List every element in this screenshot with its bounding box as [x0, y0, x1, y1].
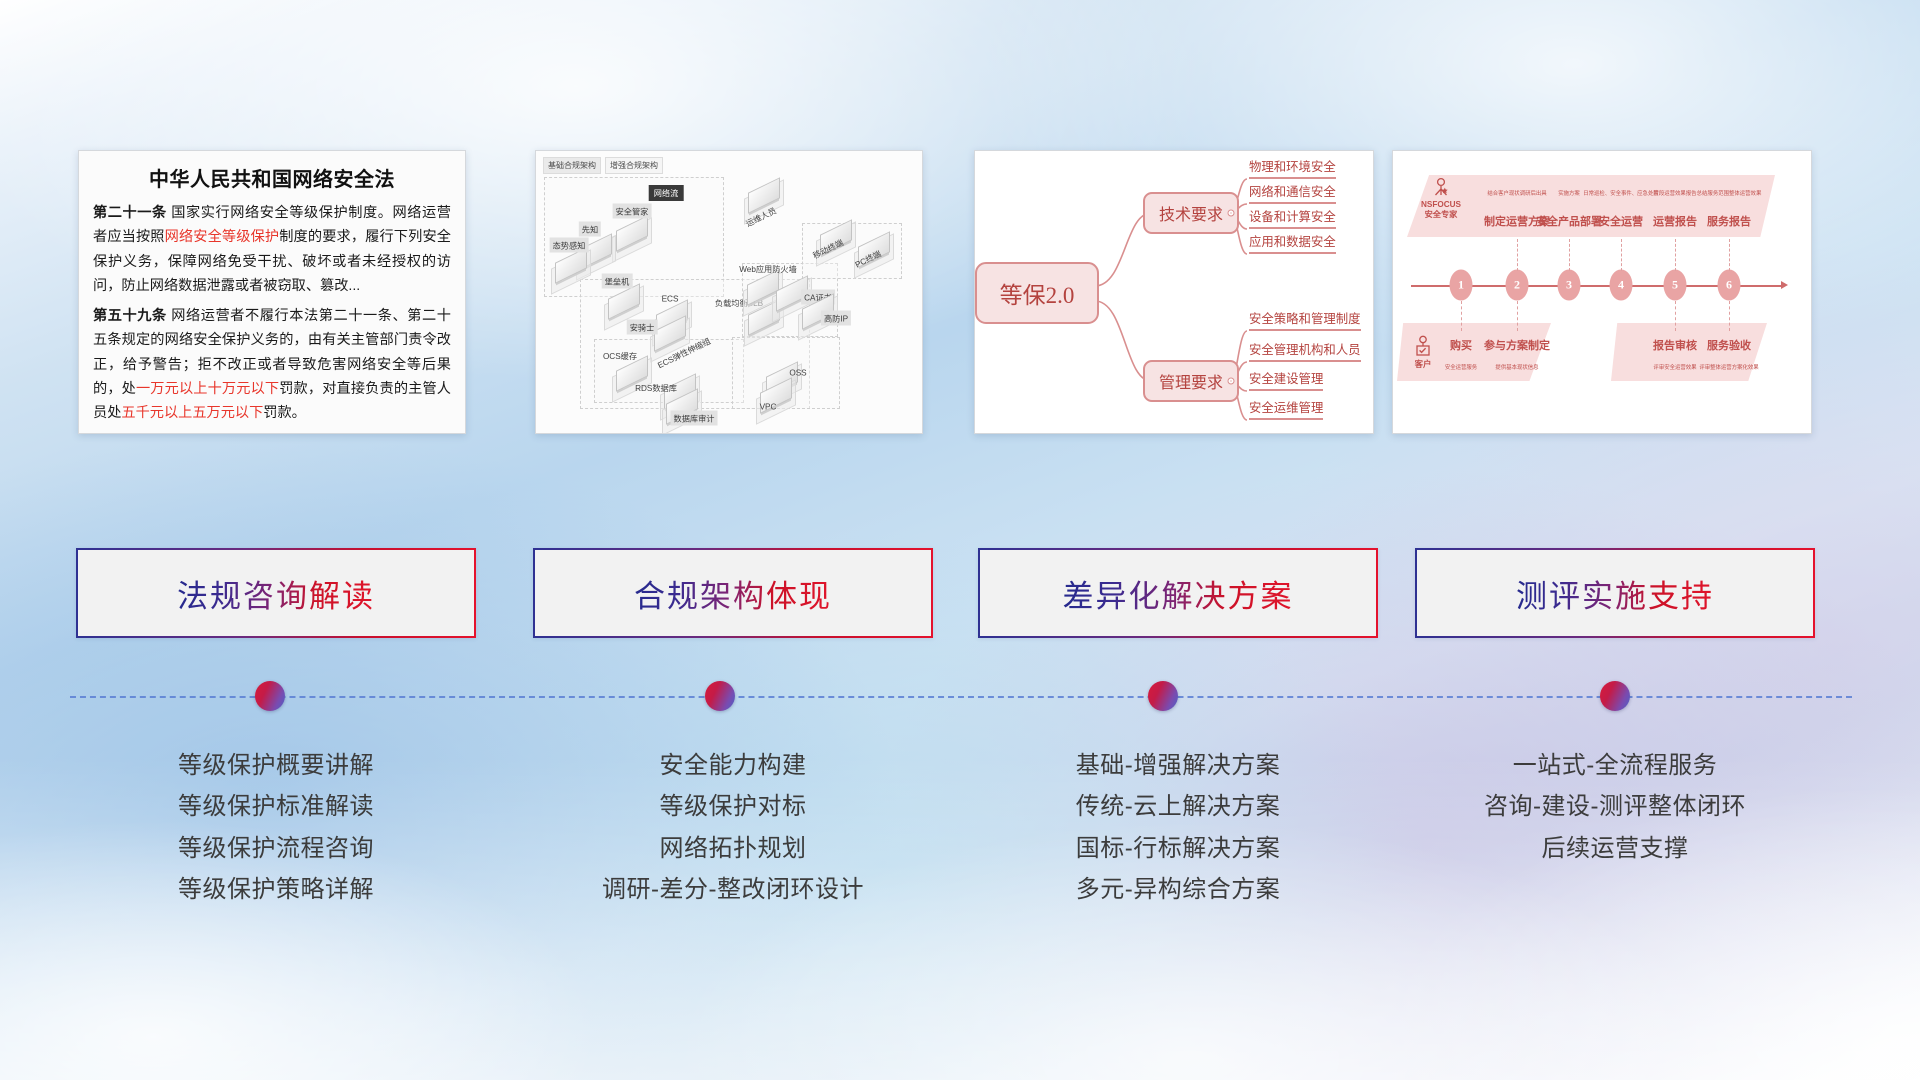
customer-step-subtitle: 评审整体运营方案化效果 — [1699, 363, 1758, 371]
mindmap-branch-technical[interactable]: 技术要求 — [1143, 192, 1239, 234]
section-title-text: 法规咨询解读 — [177, 571, 375, 616]
section-title-text: 合规架构体现 — [634, 571, 832, 616]
mindmap-leaf: 网络和通信安全 — [1249, 182, 1336, 204]
law-highlight-text: 一万元以上十万元以下 — [136, 381, 279, 397]
card-nsfocus-service-timeline[interactable]: NSFOCUS安全专家 客户 123456制定运营方案结合客户现状调研后出具安全… — [1392, 150, 1812, 434]
section-item: 咨询-建设-测评整体闭环 — [1415, 786, 1815, 827]
mindmap-leaf: 设备和计算安全 — [1249, 207, 1336, 229]
timeline-node-4[interactable] — [1600, 681, 1630, 711]
architecture-diagram: 基础合规架构 增强合规架构 网络流安全管家先知态势感知堡垒机ECS安骑士OCS缓… — [536, 151, 922, 433]
architecture-node-label: 高防IP — [821, 311, 851, 326]
section-item: 等级保护概要讲解 — [76, 745, 476, 786]
slide-stage: 中华人民共和国网络安全法 第二十一条 国家实行网络安全等级保护制度。网络运营者应… — [0, 0, 1920, 1080]
tab-enhanced-architecture[interactable]: 增强合规架构 — [605, 157, 663, 174]
timeline-step-3[interactable]: 3 — [1558, 270, 1581, 301]
architecture-node-label: 网络流 — [649, 185, 684, 201]
customer-step-subtitle: 评审安全运营效果 — [1653, 363, 1696, 371]
architecture-node-label: 安全管家 — [613, 204, 652, 219]
provider-role-line: NSFOCUS — [1411, 200, 1471, 210]
provider-role-line: 安全专家 — [1411, 210, 1471, 220]
provider-step-subtitle: 日常巡检、安全事件、应急处置 — [1583, 189, 1658, 197]
thumbnail-card-row: 中华人民共和国网络安全法 第二十一条 国家实行网络安全等级保护制度。网络运营者应… — [0, 150, 1920, 440]
section-items-1: 等级保护概要讲解等级保护标准解读等级保护流程咨询等级保护策略详解 — [76, 745, 476, 910]
provider-step-title: 运营报告 — [1653, 213, 1697, 229]
section-title-text: 测评实施支持 — [1516, 571, 1714, 616]
tab-basic-architecture[interactable]: 基础合规架构 — [543, 157, 601, 174]
timeline-node-2[interactable] — [705, 681, 735, 711]
architecture-node-label: 数据库审计 — [671, 411, 718, 426]
law-paragraph: 第二十一条 国家实行网络安全等级保护制度。网络运营者应当按照网络安全等级保护制度… — [93, 201, 451, 299]
section-item: 等级保护策略详解 — [76, 869, 476, 910]
customer-step-subtitle: 提供基本现状信息 — [1495, 363, 1538, 371]
provider-step-subtitle: 总结服务范围整体运营效果 — [1697, 189, 1762, 197]
mindmap-root-node[interactable]: 等保2.0 — [975, 262, 1099, 324]
section-item: 一站式-全流程服务 — [1415, 745, 1815, 786]
section-item: 传统-云上解决方案 — [978, 786, 1378, 827]
section-item: 网络拓扑规划 — [533, 828, 933, 869]
security-expert-icon: NSFOCUS安全专家 — [1411, 177, 1471, 219]
customer-step-title: 购买 — [1450, 337, 1472, 353]
timeline-step-5[interactable]: 5 — [1664, 270, 1687, 301]
timeline-connector — [1569, 239, 1570, 271]
mindmap-collapse-icon[interactable] — [1228, 378, 1235, 385]
mindmap-diagram: 等保2.0 技术要求 管理要求 物理和环境安全 网络和通信安全 设备和计算安全 … — [975, 151, 1373, 433]
architecture-node-label: 先知 — [579, 222, 601, 237]
section-items-2: 安全能力构建等级保护对标网络拓扑规划调研-差分-整改闭环设计 — [533, 745, 933, 910]
architecture-tabs: 基础合规架构 增强合规架构 — [543, 157, 663, 174]
mindmap-branch-management[interactable]: 管理要求 — [1143, 360, 1239, 402]
architecture-node-label: RDS数据库 — [635, 382, 677, 394]
section-title-box-4[interactable]: 测评实施支持 — [1415, 548, 1815, 638]
law-highlight-text: 五千元以上五万元以下 — [121, 405, 263, 421]
customer-step-subtitle: 安全运营服务 — [1445, 363, 1477, 371]
mindmap-leaf: 应用和数据安全 — [1249, 232, 1336, 254]
law-article-number: 第二十一条 — [93, 205, 167, 221]
architecture-node-label: 堡垒机 — [602, 274, 633, 289]
section-item: 后续运营支撑 — [1415, 828, 1815, 869]
customer-step-title: 参与方案制定 — [1484, 337, 1550, 353]
section-title-text: 差异化解决方案 — [1063, 571, 1294, 616]
provider-step-title: 服务报告 — [1707, 213, 1751, 229]
mindmap-collapse-icon[interactable] — [1228, 210, 1235, 217]
mindmap-leaf: 安全建设管理 — [1249, 369, 1323, 391]
timeline-connector — [1675, 301, 1676, 331]
customer-role-label: 客户 — [1399, 358, 1447, 370]
section-item: 等级保护对标 — [533, 786, 933, 827]
customer-icon: 客户 — [1399, 335, 1447, 370]
card-compliance-architecture[interactable]: 基础合规架构 增强合规架构 网络流安全管家先知态势感知堡垒机ECS安骑士OCS缓… — [535, 150, 923, 434]
nsfocus-timeline: NSFOCUS安全专家 客户 123456制定运营方案结合客户现状调研后出具安全… — [1393, 151, 1811, 433]
timeline-node-3[interactable] — [1148, 681, 1178, 711]
section-items-4: 一站式-全流程服务咨询-建设-测评整体闭环后续运营支撑 — [1415, 745, 1815, 869]
law-paragraph: 第五十九条 网络运营者不履行本法第二十一条、第二十五条规定的网络安全保护义务的，… — [93, 304, 451, 426]
provider-step-subtitle: 阶段运营效果报告 — [1653, 189, 1696, 197]
provider-step-title: 安全产品部署 — [1536, 213, 1602, 229]
law-title: 中华人民共和国网络安全法 — [93, 163, 451, 192]
timeline-step-6[interactable]: 6 — [1718, 270, 1741, 301]
timeline-arrow-icon — [1781, 281, 1788, 289]
timeline-step-2[interactable]: 2 — [1506, 270, 1529, 301]
provider-step-subtitle: 实施方案 — [1558, 189, 1580, 197]
customer-step-title: 报告审核 — [1653, 337, 1697, 353]
section-item: 调研-差分-整改闭环设计 — [533, 869, 933, 910]
mindmap-leaf: 物理和环境安全 — [1249, 157, 1336, 179]
mindmap-leaf: 安全运维管理 — [1249, 398, 1323, 420]
section-item: 等级保护标准解读 — [76, 786, 476, 827]
timeline-connector — [1729, 301, 1730, 331]
provider-step-subtitle: 结合客户现状调研后出具 — [1487, 189, 1546, 197]
law-article-number: 第五十九条 — [93, 308, 167, 324]
mindmap-leaf: 安全策略和管理制度 — [1249, 309, 1361, 331]
architecture-node-label: 安骑士 — [627, 320, 658, 335]
card-mindmap-dengbao[interactable]: 等保2.0 技术要求 管理要求 物理和环境安全 网络和通信安全 设备和计算安全 … — [974, 150, 1374, 434]
section-item: 等级保护流程咨询 — [76, 828, 476, 869]
timeline-step-4[interactable]: 4 — [1610, 270, 1633, 301]
timeline-step-1[interactable]: 1 — [1450, 270, 1473, 301]
section-title-box-1[interactable]: 法规咨询解读 — [76, 548, 476, 638]
section-item: 基础-增强解决方案 — [978, 745, 1378, 786]
architecture-node-label: OCS缓存 — [603, 350, 637, 362]
section-item: 安全能力构建 — [533, 745, 933, 786]
law-highlight-text: 网络安全等级保护 — [165, 229, 280, 245]
section-item: 国标-行标解决方案 — [978, 828, 1378, 869]
timeline-node-1[interactable] — [255, 681, 285, 711]
provider-role-label: NSFOCUS安全专家 — [1411, 200, 1471, 219]
timeline-connector — [1461, 301, 1462, 331]
architecture-node-label: Web应用防火墙 — [739, 263, 797, 275]
provider-step-title: 安全运营 — [1599, 213, 1643, 229]
customer-step-title: 服务验收 — [1707, 337, 1751, 353]
timeline-dashed-line — [70, 696, 1852, 698]
law-body: 中华人民共和国网络安全法 第二十一条 国家实行网络安全等级保护制度。网络运营者应… — [79, 151, 465, 434]
section-title-box-2[interactable]: 合规架构体现 — [533, 548, 933, 638]
card-cybersecurity-law[interactable]: 中华人民共和国网络安全法 第二十一条 国家实行网络安全等级保护制度。网络运营者应… — [78, 150, 466, 434]
timeline-connector — [1621, 239, 1622, 271]
timeline-connector — [1729, 239, 1730, 271]
mindmap-leaf: 安全管理机构和人员 — [1249, 340, 1361, 362]
section-title-box-3[interactable]: 差异化解决方案 — [978, 548, 1378, 638]
timeline-connector — [1675, 239, 1676, 271]
section-item: 多元-异构综合方案 — [978, 869, 1378, 910]
architecture-node-label: 态势感知 — [550, 238, 589, 253]
timeline-connector — [1517, 301, 1518, 331]
section-items-3: 基础-增强解决方案传统-云上解决方案国标-行标解决方案多元-异构综合方案 — [978, 745, 1378, 910]
timeline-connector — [1517, 239, 1518, 271]
law-text: 罚款。 — [263, 405, 306, 421]
architecture-node-label: ECS — [662, 295, 679, 304]
architecture-node-label: VPC — [760, 403, 777, 412]
